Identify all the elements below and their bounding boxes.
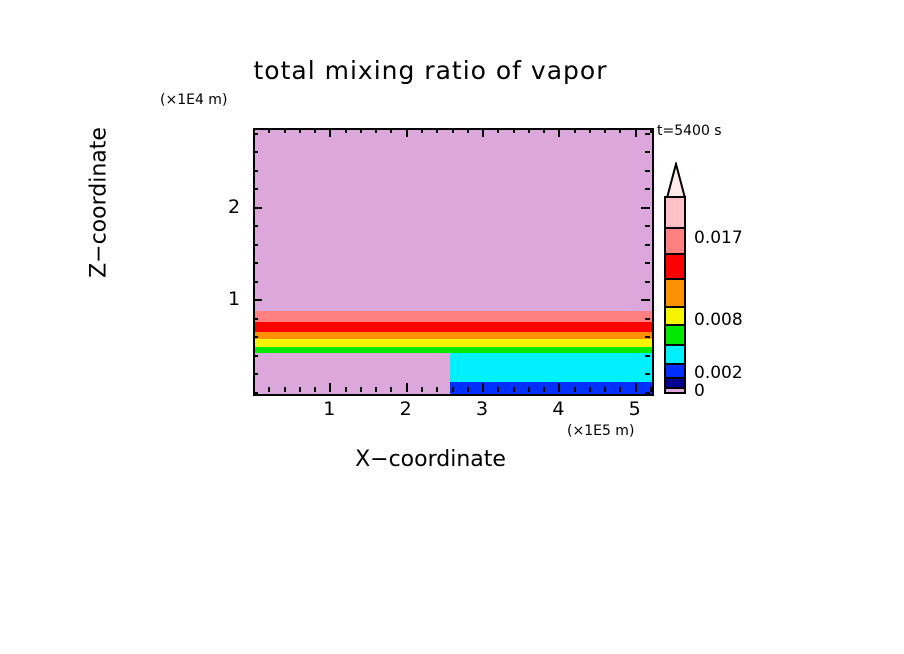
x-tick-bottom xyxy=(299,387,301,392)
x-tick-bottom xyxy=(436,387,438,392)
x-tick-bottom xyxy=(619,387,621,392)
x-tick-bottom xyxy=(329,383,331,392)
y-tick-right xyxy=(645,244,650,246)
colorbar-band xyxy=(666,326,684,346)
colorbar-tick-label: 0.008 xyxy=(694,310,743,330)
colorbar-tick-label: 0.002 xyxy=(694,363,743,383)
x-tick-bottom xyxy=(574,387,576,392)
y-tick-right xyxy=(645,262,650,264)
y-tick-right xyxy=(645,392,650,394)
x-tick-top xyxy=(482,128,484,137)
y-tick-right xyxy=(641,299,650,301)
x-tick-top xyxy=(619,128,621,133)
x-tick-top xyxy=(329,128,331,137)
x-tick-top xyxy=(467,128,469,133)
x-tick-top xyxy=(421,128,423,133)
x-tick-bottom xyxy=(604,387,606,392)
x-tick-label: 4 xyxy=(552,398,564,420)
colorbar-tick-label: 0.017 xyxy=(694,228,743,248)
x-tick-top xyxy=(452,128,454,133)
colorbar-band xyxy=(666,198,684,229)
x-tick-bottom xyxy=(406,383,408,392)
x-tick-top xyxy=(558,128,560,137)
x-tick-top xyxy=(604,128,606,133)
x-tick-top xyxy=(299,128,301,133)
x-tick-top xyxy=(390,128,392,133)
x-axis-unit-label: (×1E5 m) xyxy=(567,423,634,439)
x-tick-top xyxy=(497,128,499,133)
contour-band xyxy=(255,311,450,322)
contour-field xyxy=(255,130,652,394)
x-tick-top xyxy=(543,128,545,133)
y-tick-label: 1 xyxy=(228,288,240,310)
x-tick-top xyxy=(268,128,270,133)
x-tick-top xyxy=(345,128,347,133)
x-tick-bottom xyxy=(650,387,652,392)
x-tick-top xyxy=(513,128,515,133)
y-tick-right xyxy=(645,188,650,190)
contour-band xyxy=(450,382,652,394)
y-tick-left xyxy=(253,392,258,394)
x-tick-top xyxy=(314,128,316,133)
contour-band xyxy=(255,332,450,339)
colorbar-band xyxy=(666,365,684,379)
x-tick-top xyxy=(375,128,377,133)
y-tick-left xyxy=(253,207,262,209)
x-tick-bottom xyxy=(528,387,530,392)
colorbar-band xyxy=(666,280,684,308)
x-tick-bottom xyxy=(390,387,392,392)
y-tick-left xyxy=(253,336,258,338)
x-tick-top xyxy=(635,128,637,137)
y-tick-right xyxy=(645,133,650,135)
colorbar-band xyxy=(666,255,684,280)
y-tick-left xyxy=(253,355,258,357)
y-tick-left xyxy=(253,281,258,283)
x-tick-top xyxy=(436,128,438,133)
colorbar-band xyxy=(666,379,684,389)
x-tick-bottom xyxy=(467,387,469,392)
contour-band xyxy=(450,311,652,322)
y-tick-left xyxy=(253,225,258,227)
y-tick-right xyxy=(641,207,650,209)
y-tick-right xyxy=(645,318,650,320)
y-tick-right xyxy=(645,281,650,283)
x-tick-bottom xyxy=(482,383,484,392)
x-tick-top xyxy=(528,128,530,133)
colorbar-band xyxy=(666,389,684,394)
colorbar-band xyxy=(666,346,684,365)
x-tick-bottom xyxy=(543,387,545,392)
colorbar-body xyxy=(664,196,686,394)
y-tick-left xyxy=(253,133,258,135)
contour-band xyxy=(450,347,652,353)
colorbar-arrow-icon xyxy=(663,162,689,198)
y-tick-right xyxy=(645,170,650,172)
colorbar-band xyxy=(666,229,684,255)
x-tick-bottom xyxy=(513,387,515,392)
x-tick-label: 1 xyxy=(323,398,335,420)
y-tick-left xyxy=(253,318,258,320)
x-tick-bottom xyxy=(452,387,454,392)
x-tick-bottom xyxy=(497,387,499,392)
contour-band xyxy=(255,347,450,353)
x-tick-top xyxy=(589,128,591,133)
y-axis-unit-label: (×1E4 m) xyxy=(160,92,227,108)
x-axis-title: X−coordinate xyxy=(0,447,904,472)
x-tick-bottom xyxy=(360,387,362,392)
colorbar xyxy=(663,162,689,397)
x-tick-bottom xyxy=(421,387,423,392)
time-annotation: t=5400 s xyxy=(657,123,722,139)
y-tick-left xyxy=(253,151,258,153)
plot-frame xyxy=(253,128,654,396)
x-tick-bottom xyxy=(558,383,560,392)
x-tick-top xyxy=(284,128,286,133)
y-tick-left xyxy=(253,373,258,375)
contour-band xyxy=(255,339,450,346)
y-tick-left xyxy=(253,262,258,264)
page-title: total mixing ratio of vapor xyxy=(0,56,904,85)
y-tick-right xyxy=(645,373,650,375)
contour-band xyxy=(450,322,652,332)
y-tick-left xyxy=(253,170,258,172)
y-axis-title: Z−coordinate xyxy=(87,83,112,323)
y-tick-left xyxy=(253,244,258,246)
x-tick-top xyxy=(406,128,408,137)
x-tick-label: 5 xyxy=(629,398,641,420)
colorbar-tick-label: 0 xyxy=(694,381,705,401)
x-tick-bottom xyxy=(268,387,270,392)
x-tick-bottom xyxy=(375,387,377,392)
contour-band xyxy=(450,353,652,382)
y-tick-right xyxy=(645,225,650,227)
contour-band xyxy=(450,332,652,339)
x-tick-bottom xyxy=(284,387,286,392)
x-tick-bottom xyxy=(345,387,347,392)
y-tick-right xyxy=(645,151,650,153)
y-tick-label: 2 xyxy=(228,196,240,218)
x-tick-label: 3 xyxy=(476,398,488,420)
colorbar-band xyxy=(666,308,684,326)
y-tick-left xyxy=(253,188,258,190)
y-tick-right xyxy=(645,355,650,357)
x-tick-bottom xyxy=(314,387,316,392)
x-tick-top xyxy=(360,128,362,133)
contour-band xyxy=(450,339,652,346)
x-tick-top xyxy=(574,128,576,133)
x-tick-label: 2 xyxy=(400,398,412,420)
y-tick-left xyxy=(253,299,262,301)
x-tick-bottom xyxy=(635,383,637,392)
y-tick-right xyxy=(645,336,650,338)
x-tick-top xyxy=(650,128,652,133)
x-tick-bottom xyxy=(589,387,591,392)
contour-band xyxy=(255,322,450,332)
